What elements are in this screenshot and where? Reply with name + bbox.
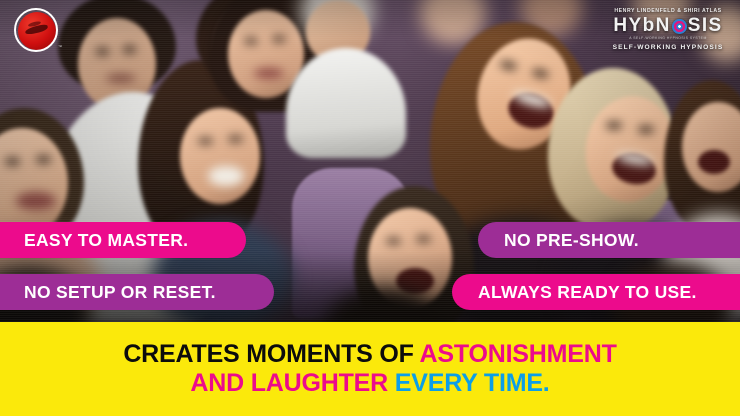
feature-banner-label: EASY TO MASTER. [24, 230, 188, 251]
red-circle-emblem-logo[interactable]: ™ [14, 8, 62, 56]
feature-banner-label: NO PRE-SHOW. [504, 230, 639, 251]
headline-line2-magenta: AND LAUGHTER [190, 369, 394, 397]
wordmark-i: I [702, 16, 709, 35]
brand-credits: HENRY LINDENFELD & SHIRI ATLAS [604, 8, 732, 14]
brand-tagline: SELF-WORKING HYPNOSIS [604, 44, 732, 51]
headline-line-2: AND LAUGHTER EVERY TIME. [190, 369, 549, 399]
headline-line-1: CREATES MOMENTS OF ASTONISHMENT [123, 340, 616, 370]
headline-line2-cyan: EVERY TIME. [395, 369, 550, 397]
feature-banner-no-setup-or-reset: NO SETUP OR RESET. [0, 274, 274, 310]
feature-banner-label: NO SETUP OR RESET. [24, 282, 216, 303]
promo-slide: ™ HENRY LINDENFELD & SHIRI ATLAS HYbNSIS… [0, 0, 740, 416]
feature-banner-no-pre-show: NO PRE-SHOW. [478, 222, 740, 258]
headline-line1-black: CREATES MOMENTS OF [123, 340, 419, 368]
logo-trademark: ™ [58, 44, 62, 49]
wordmark-s1: S [688, 16, 702, 35]
wordmark-n: N [656, 16, 671, 35]
headline-bar: CREATES MOMENTS OF ASTONISHMENT AND LAUG… [0, 322, 740, 416]
brand-wordmark: HYbNSIS [604, 16, 732, 35]
wordmark-hy: HY [613, 16, 642, 35]
feature-banner-label: ALWAYS READY TO USE. [478, 282, 697, 303]
wordmark-b: b [643, 16, 656, 35]
spiral-o-icon [672, 19, 687, 34]
feature-banner-always-ready-to-use: ALWAYS READY TO USE. [452, 274, 740, 310]
feature-banner-easy-to-master: EASY TO MASTER. [0, 222, 246, 258]
headline-line1-magenta: ASTONISHMENT [420, 340, 617, 368]
brand-microline: A SELF-WORKING HYPNOSIS SYSTEM [604, 36, 732, 40]
logo-ring [14, 8, 58, 52]
hypnosis-brand-lockup[interactable]: HENRY LINDENFELD & SHIRI ATLAS HYbNSIS A… [604, 8, 732, 51]
wordmark-s2: S [709, 16, 723, 35]
